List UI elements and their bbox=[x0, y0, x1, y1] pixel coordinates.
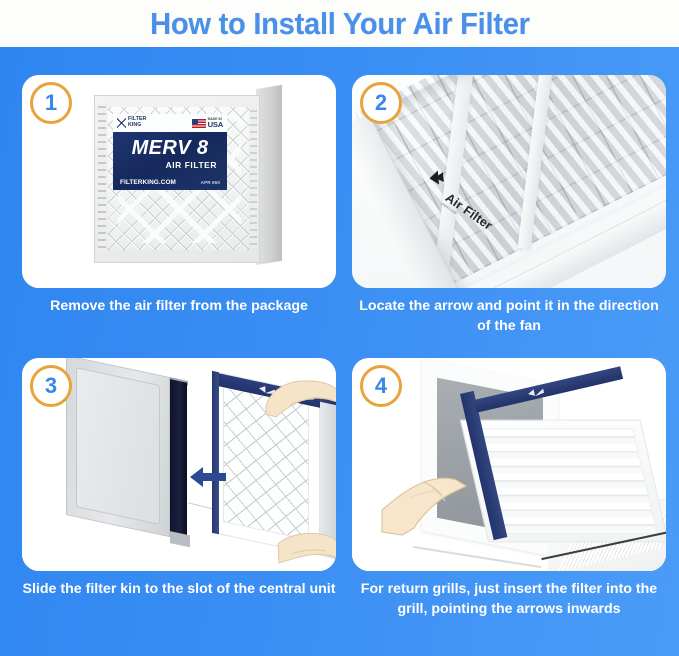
step-3-image-card: 3 bbox=[22, 358, 336, 571]
step-3-number-badge: 3 bbox=[30, 365, 72, 407]
step-1-number: 1 bbox=[45, 92, 57, 114]
step-card-2: 2 bbox=[352, 75, 666, 336]
step-4-number: 4 bbox=[375, 375, 387, 397]
origin-country: USA bbox=[208, 121, 223, 129]
brand-name: FILTER KING bbox=[128, 117, 146, 128]
brand-line-2: KING bbox=[128, 122, 141, 128]
product-label-sticker: FILTER KING MADE IN bbox=[113, 114, 227, 190]
label-header-strip: FILTER KING MADE IN bbox=[113, 114, 227, 132]
crown-icon bbox=[117, 118, 126, 128]
brand-logo: FILTER KING bbox=[117, 117, 146, 128]
unit-filter-slot bbox=[170, 379, 187, 541]
page-title: How to Install Your Air Filter bbox=[150, 6, 530, 42]
step-2-image-card: 2 bbox=[352, 75, 666, 288]
step-1-number-badge: 1 bbox=[30, 82, 72, 124]
made-in-usa-mark: MADE IN USA bbox=[192, 118, 223, 129]
step-3-number: 3 bbox=[45, 375, 57, 397]
usa-flag-icon bbox=[192, 119, 206, 128]
filter-front-face: FILTER KING MADE IN bbox=[94, 95, 260, 263]
step-2-caption: Locate the arrow and point it in the dir… bbox=[352, 288, 666, 336]
label-footer-strip: FILTERKING.COM APR 650 bbox=[113, 179, 227, 186]
step-2-number-badge: 2 bbox=[360, 82, 402, 124]
apr-rating-text: APR 650 bbox=[201, 180, 220, 185]
step-3-caption: Slide the filter kin to the slot of the … bbox=[22, 571, 336, 600]
insert-direction-arrow-left bbox=[190, 466, 226, 488]
filter-pleat-edge-left bbox=[98, 106, 106, 252]
step-4-number-badge: 4 bbox=[360, 365, 402, 407]
unit-front-panel bbox=[66, 358, 170, 537]
airflow-direction-arrow bbox=[427, 168, 447, 188]
content-background: 1 bbox=[0, 47, 679, 656]
unit-base-edge bbox=[170, 531, 190, 547]
step-1-image-card: 1 bbox=[22, 75, 336, 288]
step-4-image-card: 4 bbox=[352, 358, 666, 571]
step-card-1: 1 bbox=[22, 75, 336, 317]
merv-rating: MERV 8 bbox=[113, 138, 227, 158]
header-bar: How to Install Your Air Filter bbox=[0, 0, 679, 47]
central-unit-housing bbox=[66, 358, 188, 541]
label-subtitle: AIR FILTER bbox=[113, 160, 227, 170]
step-card-4: 4 bbox=[352, 358, 666, 619]
step-card-3: 3 bbox=[22, 358, 336, 600]
hand-upper bbox=[260, 376, 336, 418]
step-2-number: 2 bbox=[375, 92, 387, 114]
filter-box: FILTER KING MADE IN bbox=[94, 89, 282, 265]
infographic-root: How to Install Your Air Filter 1 bbox=[0, 0, 679, 656]
filter-pleat-edge-right bbox=[250, 110, 257, 248]
website-text: FILTERKING.COM bbox=[120, 179, 176, 186]
step-1-caption: Remove the air filter from the package bbox=[22, 288, 336, 317]
step-4-caption: For return grills, just insert the filte… bbox=[352, 571, 666, 619]
steps-grid: 1 bbox=[0, 47, 679, 656]
hand-inserting-filter bbox=[380, 454, 484, 536]
filter-blue-left-rail bbox=[212, 371, 219, 534]
hand-lower bbox=[276, 530, 336, 564]
